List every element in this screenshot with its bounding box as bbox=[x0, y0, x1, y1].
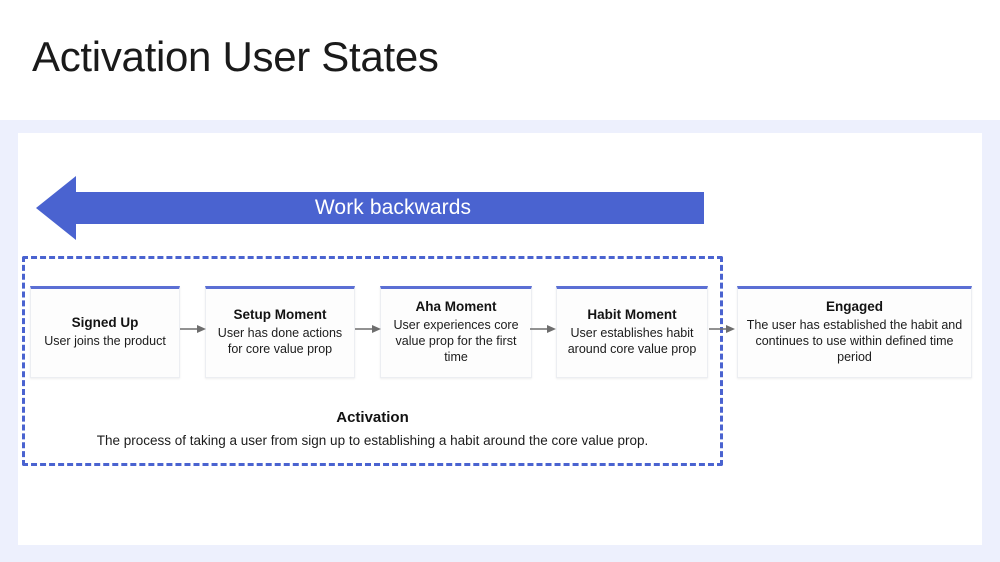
activation-caption: Activation The process of taking a user … bbox=[24, 408, 721, 449]
stage-title: Engaged bbox=[826, 299, 883, 316]
stage-description: User experiences core value prop for the… bbox=[388, 317, 524, 365]
arrow-right-icon bbox=[530, 324, 556, 334]
stage-title: Habit Moment bbox=[587, 307, 676, 324]
activation-caption-description: The process of taking a user from sign u… bbox=[24, 432, 721, 450]
stage-title: Setup Moment bbox=[234, 307, 327, 324]
arrow-right-icon bbox=[355, 324, 381, 334]
work-backwards-label: Work backwards bbox=[36, 176, 704, 240]
page-title: Activation User States bbox=[32, 33, 439, 81]
stage-description: The user has established the habit and c… bbox=[745, 317, 964, 365]
stage-card-setup-moment[interactable]: Setup Moment User has done actions for c… bbox=[205, 286, 355, 378]
stage-description: User establishes habit around core value… bbox=[564, 325, 700, 357]
stage-title: Signed Up bbox=[72, 315, 139, 332]
stage-card-engaged[interactable]: Engaged The user has established the hab… bbox=[737, 286, 972, 378]
work-backwards-arrow: Work backwards bbox=[36, 176, 704, 240]
stage-card-aha-moment[interactable]: Aha Moment User experiences core value p… bbox=[380, 286, 532, 378]
activation-caption-title: Activation bbox=[24, 408, 721, 428]
stage-card-signed-up[interactable]: Signed Up User joins the product bbox=[30, 286, 180, 378]
stage-card-habit-moment[interactable]: Habit Moment User establishes habit arou… bbox=[556, 286, 708, 378]
stage-description: User joins the product bbox=[44, 333, 166, 349]
arrow-right-icon bbox=[709, 324, 735, 334]
stage-title: Aha Moment bbox=[416, 299, 497, 316]
stage-description: User has done actions for core value pro… bbox=[213, 325, 347, 357]
arrow-right-icon bbox=[180, 324, 206, 334]
